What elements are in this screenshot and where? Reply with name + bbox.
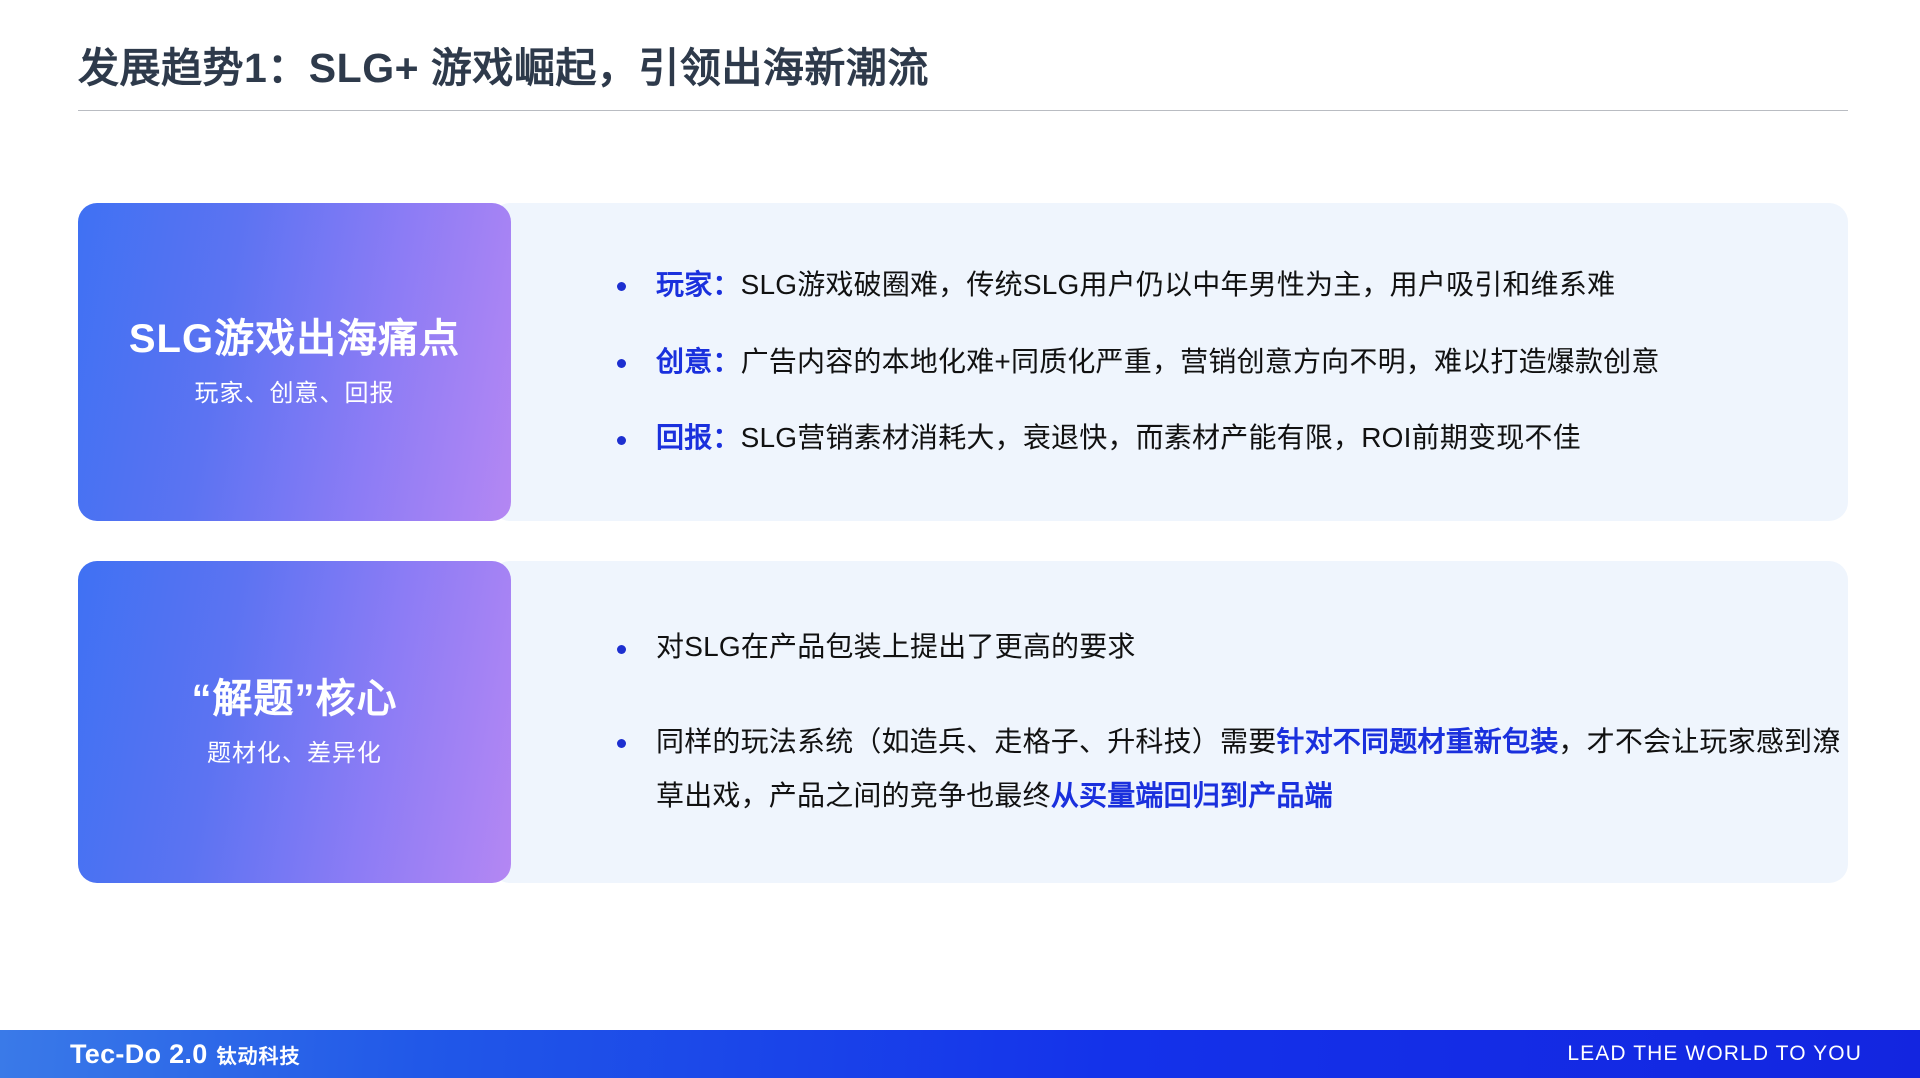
bullet-dot-icon <box>617 645 626 654</box>
highlighted-text: 针对不同题材重新包装 <box>1276 726 1558 757</box>
bullet-dot-icon <box>617 739 626 748</box>
content-panel-pain-points: 玩家：SLG游戏破圈难，传统SLG用户仍以中年男性为主，用户吸引和维系难 创意：… <box>491 203 1848 521</box>
bullet-text: 对SLG在产品包装上提出了更高的要求 <box>656 631 1136 662</box>
list-item: 同样的玩法系统（如造兵、走格子、升科技）需要针对不同题材重新包装，才不会让玩家感… <box>611 715 1848 824</box>
list-item: 创意：广告内容的本地化难+同质化严重，营销创意方向不明，难以打造爆款创意 <box>611 342 1848 383</box>
bullet-text: SLG游戏破圈难，传统SLG用户仍以中年男性为主，用户吸引和维系难 <box>741 269 1616 300</box>
highlighted-text: 从买量端回归到产品端 <box>1051 780 1333 811</box>
slide-header: 发展趋势1：SLG+ 游戏崛起，引领出海新潮流 <box>78 44 1848 111</box>
bullet-list-pain-points: 玩家：SLG游戏破圈难，传统SLG用户仍以中年男性为主，用户吸引和维系难 创意：… <box>611 265 1848 459</box>
label-card-title: SLG游戏出海痛点 <box>129 314 460 364</box>
content-block-pain-points: SLG游戏出海痛点 玩家、创意、回报 玩家：SLG游戏破圈难，传统SLG用户仍以… <box>78 203 1848 521</box>
bullet-label: 玩家： <box>656 269 741 300</box>
bullet-label: 创意： <box>656 346 741 377</box>
bullet-dot-icon <box>617 282 626 291</box>
bullet-dot-icon <box>617 436 626 445</box>
bullet-label: 回报： <box>656 422 741 453</box>
footer-tagline: LEAD THE WORLD TO YOU <box>1567 1042 1862 1066</box>
title-divider <box>78 110 1848 111</box>
bullet-rich-text: 同样的玩法系统（如造兵、走格子、升科技）需要针对不同题材重新包装，才不会让玩家感… <box>656 726 1840 812</box>
plain-text: 同样的玩法系统（如造兵、走格子、升科技）需要 <box>656 726 1276 757</box>
label-card-subtitle: 题材化、差异化 <box>207 738 382 769</box>
footer-brand-en: Tec-Do 2.0 <box>70 1039 208 1070</box>
label-card-title: “解题”核心 <box>192 674 398 724</box>
bullet-list-solution-core: 对SLG在产品包装上提出了更高的要求 同样的玩法系统（如造兵、走格子、升科技）需… <box>611 620 1848 824</box>
footer-brand: Tec-Do 2.0 钛动科技 <box>70 1039 301 1070</box>
list-item: 回报：SLG营销素材消耗大，衰退快，而素材产能有限，ROI前期变现不佳 <box>611 418 1848 459</box>
list-item: 对SLG在产品包装上提出了更高的要求 <box>611 620 1848 675</box>
bullet-text: SLG营销素材消耗大，衰退快，而素材产能有限，ROI前期变现不佳 <box>741 422 1581 453</box>
footer-brand-cn: 钛动科技 <box>217 1040 301 1069</box>
bullet-dot-icon <box>617 359 626 368</box>
page-title: 发展趋势1：SLG+ 游戏崛起，引领出海新潮流 <box>78 44 1848 93</box>
label-card-subtitle: 玩家、创意、回报 <box>195 378 395 409</box>
footer-bar: Tec-Do 2.0 钛动科技 LEAD THE WORLD TO YOU <box>0 1030 1920 1078</box>
list-item: 玩家：SLG游戏破圈难，传统SLG用户仍以中年男性为主，用户吸引和维系难 <box>611 265 1848 306</box>
label-card-pain-points: SLG游戏出海痛点 玩家、创意、回报 <box>78 203 511 521</box>
label-card-solution-core: “解题”核心 题材化、差异化 <box>78 561 511 883</box>
content-block-solution-core: “解题”核心 题材化、差异化 对SLG在产品包装上提出了更高的要求 同样的玩法系… <box>78 561 1848 883</box>
bullet-text: 广告内容的本地化难+同质化严重，营销创意方向不明，难以打造爆款创意 <box>741 346 1660 377</box>
content-panel-solution-core: 对SLG在产品包装上提出了更高的要求 同样的玩法系统（如造兵、走格子、升科技）需… <box>491 561 1848 883</box>
